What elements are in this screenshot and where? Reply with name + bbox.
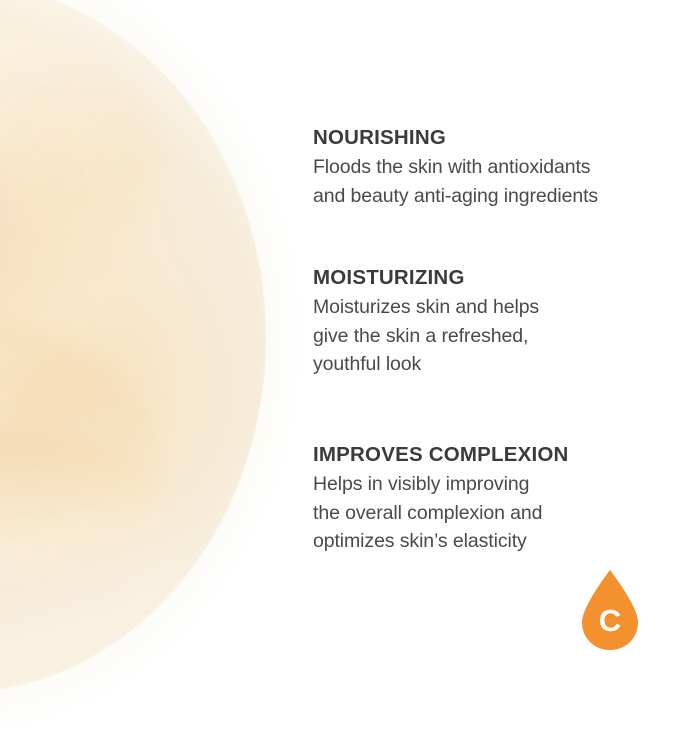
benefit-item-moisturizing: MOISTURIZING Moisturizes skin and helps … (313, 266, 653, 379)
vitamin-c-droplet-badge: C (578, 568, 642, 652)
benefit-title: NOURISHING (313, 126, 653, 150)
benefit-item-nourishing: NOURISHING Floods the skin with antioxid… (313, 126, 653, 210)
benefit-title: IMPROVES COMPLEXION (313, 443, 653, 467)
benefit-description-line: the overall complexion and (313, 499, 653, 527)
benefit-description-line: youthful look (313, 350, 653, 378)
benefit-description-line: Floods the skin with antioxidants (313, 153, 653, 181)
benefit-description-line: Helps in visibly improving (313, 470, 653, 498)
benefit-description-line: optimizes skin’s elasticity (313, 527, 653, 555)
benefit-description-line: and beauty anti-aging ingredients (313, 182, 653, 210)
benefit-description: Moisturizes skin and helps give the skin… (313, 293, 653, 378)
benefit-description: Helps in visibly improving the overall c… (313, 470, 653, 555)
benefit-title: MOISTURIZING (313, 266, 653, 290)
product-jar-image (0, 0, 300, 732)
benefit-description-line: Moisturizes skin and helps (313, 293, 653, 321)
benefit-description-line: give the skin a refreshed, (313, 322, 653, 350)
benefit-item-improves-complexion: IMPROVES COMPLEXION Helps in visibly imp… (313, 443, 653, 556)
badge-letter: C (578, 568, 642, 652)
benefit-description: Floods the skin with antioxidants and be… (313, 153, 653, 210)
jar-rim (0, 0, 300, 732)
